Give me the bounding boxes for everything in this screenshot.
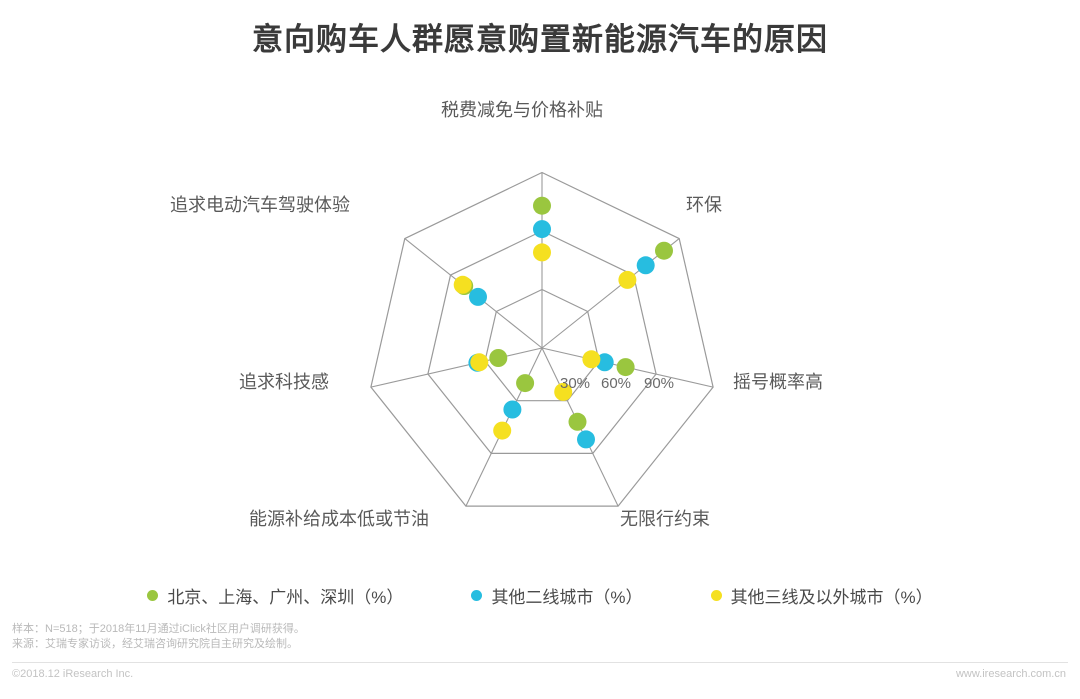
axis-label-tax-subsidy: 税费减免与价格补贴	[441, 96, 603, 122]
legend-item-tier1[interactable]: 北京、上海、广州、深圳（%）	[147, 583, 403, 608]
radar-plot-svg	[0, 70, 1080, 560]
radar-point	[655, 242, 673, 260]
footnote-source: 来源：艾瑞专家访谈，经艾瑞咨询研究院自主研究及绘制。	[12, 637, 612, 652]
website-url: www.iresearch.com.cn	[956, 668, 1066, 680]
radar-point	[533, 243, 551, 261]
footer-divider	[12, 662, 1068, 663]
axis-label-driving-experience: 追求电动汽车驾驶体验	[170, 191, 350, 217]
radar-point	[617, 358, 635, 376]
radar-point	[454, 276, 472, 294]
legend-dot-icon	[471, 590, 482, 601]
legend-item-tier3[interactable]: 其他三线及以外城市（%）	[711, 583, 933, 608]
legend-label: 北京、上海、广州、深圳（%）	[167, 583, 403, 608]
radar-data-points	[454, 197, 673, 449]
radar-point	[493, 422, 511, 440]
legend-label: 其他二线城市（%）	[491, 583, 642, 608]
axis-label-environment: 环保	[686, 191, 722, 217]
page-title: 意向购车人群愿意购置新能源汽车的原因	[0, 14, 1080, 59]
radar-point	[533, 220, 551, 238]
footnote-sample: 样本：N=518；于2018年11月通过iClick社区用户调研获得。	[12, 622, 612, 637]
radar-point	[489, 349, 507, 367]
radar-point	[503, 401, 521, 419]
copyright-text: ©2018.12 iResearch Inc.	[12, 668, 133, 680]
axis-label-technology: 追求科技感	[239, 368, 329, 394]
scale-tick-label-30: 30%	[560, 375, 590, 392]
radar-point	[516, 374, 534, 392]
legend-dot-icon	[711, 590, 722, 601]
footnotes: 样本：N=518；于2018年11月通过iClick社区用户调研获得。 来源：艾…	[12, 622, 612, 652]
scale-tick-label-60: 60%	[601, 375, 631, 392]
radar-point	[469, 288, 487, 306]
chart-legend: 北京、上海、广州、深圳（%）其他二线城市（%）其他三线及以外城市（%）	[0, 575, 1080, 615]
radar-point	[577, 430, 595, 448]
radar-point	[569, 413, 587, 431]
axis-label-energy-cost: 能源补给成本低或节油	[249, 505, 429, 531]
radar-point	[582, 350, 600, 368]
radar-point	[533, 197, 551, 215]
axis-label-lottery: 摇号概率高	[733, 368, 823, 394]
scale-tick-label-90: 90%	[644, 375, 674, 392]
radar-point	[637, 256, 655, 274]
legend-item-tier2[interactable]: 其他二线城市（%）	[471, 583, 642, 608]
radar-point	[618, 271, 636, 289]
radar-point	[470, 353, 488, 371]
legend-label: 其他三线及以外城市（%）	[731, 583, 933, 608]
axis-label-no-restriction: 无限行约束	[620, 505, 710, 531]
radar-chart	[0, 70, 1080, 560]
legend-dot-icon	[147, 590, 158, 601]
